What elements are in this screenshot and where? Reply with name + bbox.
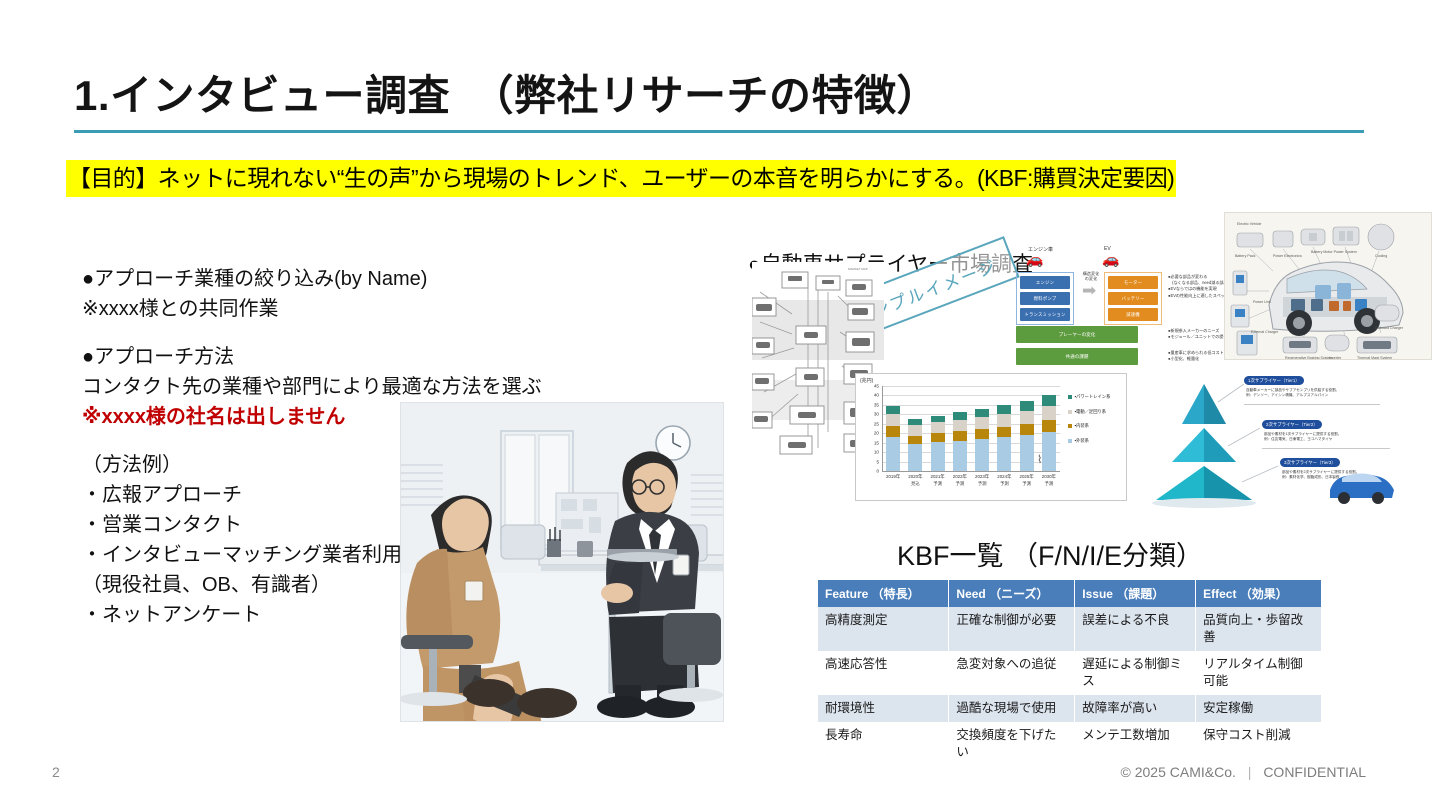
chart-y-tick: 0 — [876, 469, 879, 474]
chart-bar-segment — [931, 442, 945, 471]
table-row: 高精度測定正確な制御が必要誤差による不良品質向上・歩留改善 — [818, 607, 1322, 651]
legend-label: ▪内装系 — [1075, 423, 1089, 429]
chart-bar-segment — [908, 444, 922, 471]
table-cell: 急変対象への追従 — [949, 651, 1075, 695]
chart-x-axis — [882, 471, 1060, 472]
chart-y-tick: 5 — [876, 459, 879, 464]
table-cell: 保守コスト削減 — [1196, 722, 1322, 766]
chart-bar-segment — [975, 409, 989, 417]
footer-legal: © 2025 CAMI&Co. | CONFIDENTIAL — [1121, 764, 1366, 780]
table-cell: 安定稼働 — [1196, 695, 1322, 722]
chart-bar — [1020, 386, 1034, 471]
kbf-table: Feature （特長） Need （ニーズ） Issue （課題） Effec… — [818, 580, 1322, 766]
legend-label: ▪外装系 — [1075, 438, 1089, 444]
svg-text:Cooling: Cooling — [1375, 254, 1387, 258]
page-number: 2 — [52, 764, 60, 780]
chart-bar-segment — [953, 412, 967, 420]
table-cell: 正確な制御が必要 — [949, 607, 1075, 651]
chart-bar-segment — [908, 436, 922, 444]
chart-legend-item: ▪外装系 — [1068, 438, 1110, 444]
chart-bar — [953, 386, 967, 471]
ev-car-icon: 🚗 — [1102, 252, 1119, 266]
chart-bar-segment — [1020, 424, 1034, 435]
svg-text:MARKET MAP: MARKET MAP — [848, 267, 868, 271]
flow-notes-mid: ●新規参入メーカーのニーズ ●モジュール／ユニットでの提供 — [1168, 328, 1228, 340]
svg-text:External Charger: External Charger — [1251, 330, 1279, 334]
svg-text:Power Unit: Power Unit — [1253, 300, 1271, 304]
legend-swatch — [1068, 424, 1072, 428]
flow-green-bar: プレーヤーの変化 — [1016, 326, 1138, 343]
chart-bar-segment — [931, 433, 945, 442]
chart-bar-segment — [953, 441, 967, 471]
svg-text:Thermal Magt System: Thermal Magt System — [1357, 356, 1392, 360]
chart-bar-segment — [931, 422, 945, 432]
kbf-col-effect: Effect （効果） — [1196, 580, 1322, 607]
flow-green-bar: 共通の課題 — [1016, 348, 1138, 365]
chart-y-tick: 10 — [874, 450, 879, 455]
table-cell: 高精度測定 — [818, 607, 949, 651]
chart-legend-item: ▪電動／足回り系 — [1068, 409, 1110, 415]
svg-text:Regenerative Braking System: Regenerative Braking System — [1285, 356, 1333, 360]
legend-label: ▪パワートレイン系 — [1075, 394, 1111, 400]
chart-bar-segment — [953, 431, 967, 440]
kbf-col-issue: Issue （課題） — [1075, 580, 1196, 607]
ev-parts-group: モーター バッテリー 減速機 — [1104, 272, 1162, 325]
chart-bar-segment — [1020, 435, 1034, 471]
chart-plot-area: 0510152025303540452019年2020年見込2021年予測202… — [882, 386, 1060, 471]
tier1-divider — [1244, 404, 1380, 405]
chart-x-tick: 2030年予測 — [1034, 474, 1064, 487]
slide-root: 1.インタビュー調査 （弊社リサーチの特徴） 【目的】ネットに現れない“生の声”… — [0, 0, 1440, 810]
ev-part: 減速機 — [1108, 308, 1158, 321]
chart-y-tick: 20 — [874, 431, 879, 436]
kbf-col-feature: Feature （特長） — [818, 580, 949, 607]
chart-bar-segment — [1042, 406, 1056, 420]
engine-part: 燃料ポンプ — [1020, 292, 1070, 305]
engine-parts-group: エンジン 燃料ポンプ トランスミッション — [1016, 272, 1074, 325]
flow-notes-bottom: ●量産車に求められる低コスト化 ●小型化、軽量化 — [1168, 350, 1228, 362]
chart-bar-segment — [975, 417, 989, 429]
tier2-desc: 部品や素材を1次サプライヤーに提供する役割。 例：住友電気、日東電工、ヨコハマタ… — [1264, 432, 1341, 442]
supplier-market-chart: (兆円) 0510152025303540452019年2020年見込2021年… — [855, 373, 1127, 501]
tier2-divider — [1262, 448, 1390, 449]
interview-illustration — [400, 402, 724, 722]
tier3-desc: 部品や素材を2次サプライヤーに提供する役割。 例：素材化学、樹脂成形、日本製鉄 — [1282, 470, 1359, 480]
engine-part: エンジン — [1020, 276, 1070, 289]
chart-unit-label: (兆円) — [860, 377, 873, 384]
approach-method-line: コンタクト先の業種や部門により最適な方法を選ぶ — [82, 372, 542, 402]
table-cell: 品質向上・歩留改善 — [1196, 607, 1322, 651]
tier1-desc: 自動車メーカーに部品やサブアセンブリを供給する役割。 例：デンソー、アイシン精機… — [1246, 388, 1339, 398]
table-row: 高速応答性急変対象への追従遅延による制御ミスリアルタイム制御可能 — [818, 651, 1322, 695]
chart-bar-segment — [1020, 411, 1034, 424]
legend-swatch — [1068, 439, 1072, 443]
chart-bar — [997, 386, 1011, 471]
chart-y-tick: 45 — [874, 384, 879, 389]
ev-part: バッテリー — [1108, 292, 1158, 305]
table-cell: 遅延による制御ミス — [1075, 651, 1196, 695]
chart-bar-segment — [1042, 420, 1056, 432]
chart-bar-segment — [953, 420, 967, 431]
table-row: 耐環境性過酷な現場で使用故障率が高い安定稼働 — [818, 695, 1322, 722]
table-cell: メンテ工数増加 — [1075, 722, 1196, 766]
tier3-label: 3次サプライヤー（Tier3） — [1280, 458, 1340, 467]
table-cell: 誤差による不良 — [1075, 607, 1196, 651]
chart-bar-segment — [1042, 432, 1056, 471]
chart-y-axis — [882, 386, 883, 471]
chart-bar-segment — [886, 437, 900, 471]
svg-text:Power Electronics: Power Electronics — [1273, 254, 1302, 258]
engine-vs-ev-diagram: エンジン車 EV 🚗 🚗 エンジン 燃料ポンプ トランスミッション 構造変化 の… — [1002, 244, 1214, 366]
approach-target-heading: ●アプローチ業種の絞り込み(by Name) — [82, 264, 542, 294]
table-cell: 長寿命 — [818, 722, 949, 766]
chart-bar-segment — [908, 425, 922, 435]
chart-bar-segment — [886, 406, 900, 415]
chart-bar — [1042, 386, 1056, 471]
svg-text:Onboard Charger: Onboard Charger — [1375, 326, 1404, 330]
chart-bar — [975, 386, 989, 471]
chart-bar-segment — [886, 426, 900, 437]
ev-cutaway-illustration: Electric Vehicle — [1224, 212, 1432, 360]
purpose-highlight: 【目的】ネットに現れない“生の声”から現場のトレンド、ユーザーの本音を明らかにす… — [66, 160, 1176, 197]
kbf-title: KBF一覧 （F/N/I/E分類） — [897, 534, 1203, 573]
chart-axis-break: ⌇ — [1037, 453, 1042, 466]
flow-arrow-icon: ➡ — [1082, 282, 1096, 299]
svg-text:Battery Pack: Battery Pack — [1235, 254, 1256, 258]
chart-bar-segment — [886, 414, 900, 426]
svg-text:Battery Motor Power System: Battery Motor Power System — [1311, 250, 1357, 254]
table-cell: 高速応答性 — [818, 651, 949, 695]
supplier-tier-pyramid: 1次サプライヤー（Tier1） 自動車メーカーに部品やサブアセンブリを供給する役… — [1152, 366, 1438, 510]
table-cell: 交換頻度を下げたい — [949, 722, 1075, 766]
chart-bar-segment — [997, 405, 1011, 414]
ev-title-label: Electric Vehicle — [1237, 222, 1261, 226]
table-cell: 過酷な現場で使用 — [949, 695, 1075, 722]
chart-legend-item: ▪内装系 — [1068, 423, 1110, 429]
legend-swatch — [1068, 395, 1072, 399]
chart-legend: ▪パワートレイン系▪電動／足回り系▪内装系▪外装系 — [1068, 394, 1110, 452]
legend-swatch — [1068, 410, 1072, 414]
tier2-label: 2次サプライヤー（Tier2） — [1262, 420, 1322, 429]
kbf-col-need: Need （ニーズ） — [949, 580, 1075, 607]
footer-separator: | — [1248, 764, 1252, 780]
chart-y-tick: 15 — [874, 440, 879, 445]
approach-target-note: ※xxxx様との共同作業 — [82, 294, 542, 324]
chart-y-tick: 25 — [874, 421, 879, 426]
legend-label: ▪電動／足回り系 — [1075, 409, 1107, 415]
table-cell: リアルタイム制御可能 — [1196, 651, 1322, 695]
svg-text:Inverter: Inverter — [1329, 356, 1342, 360]
chart-bar-segment — [975, 439, 989, 471]
copyright-text: © 2025 CAMI&Co. — [1121, 764, 1236, 780]
confidential-text: CONFIDENTIAL — [1263, 764, 1366, 780]
chart-bar-segment — [975, 429, 989, 439]
approach-block-1: ●アプローチ業種の絞り込み(by Name) ※xxxx様との共同作業 — [82, 264, 542, 324]
engine-part: トランスミッション — [1020, 308, 1070, 321]
engine-car-icon: 🚗 — [1026, 252, 1043, 266]
chart-bar-segment — [1020, 401, 1034, 410]
chart-bar-segment — [997, 427, 1011, 437]
chart-bar-segment — [1042, 395, 1056, 406]
table-cell: 故障率が高い — [1075, 695, 1196, 722]
chart-bar — [908, 386, 922, 471]
approach-method-heading: ●アプローチ方法 — [82, 342, 542, 372]
chart-y-tick: 40 — [874, 393, 879, 398]
table-cell: 耐環境性 — [818, 695, 949, 722]
ev-part: モーター — [1108, 276, 1158, 289]
page-title: 1.インタビュー調査 （弊社リサーチの特徴） — [74, 62, 939, 123]
chart-y-tick: 30 — [874, 412, 879, 417]
tier1-label: 1次サプライヤー（Tier1） — [1244, 376, 1304, 385]
title-underline — [74, 130, 1364, 133]
chart-y-tick: 35 — [874, 402, 879, 407]
chart-bar-segment — [997, 437, 1011, 471]
chart-bar — [886, 386, 900, 471]
chart-legend-item: ▪パワートレイン系 — [1068, 394, 1110, 400]
table-row: 長寿命交換頻度を下げたいメンテ工数増加保守コスト削減 — [818, 722, 1322, 766]
kbf-header-row: Feature （特長） Need （ニーズ） Issue （課題） Effec… — [818, 580, 1322, 607]
chart-bar — [931, 386, 945, 471]
chart-bar-segment — [997, 414, 1011, 427]
